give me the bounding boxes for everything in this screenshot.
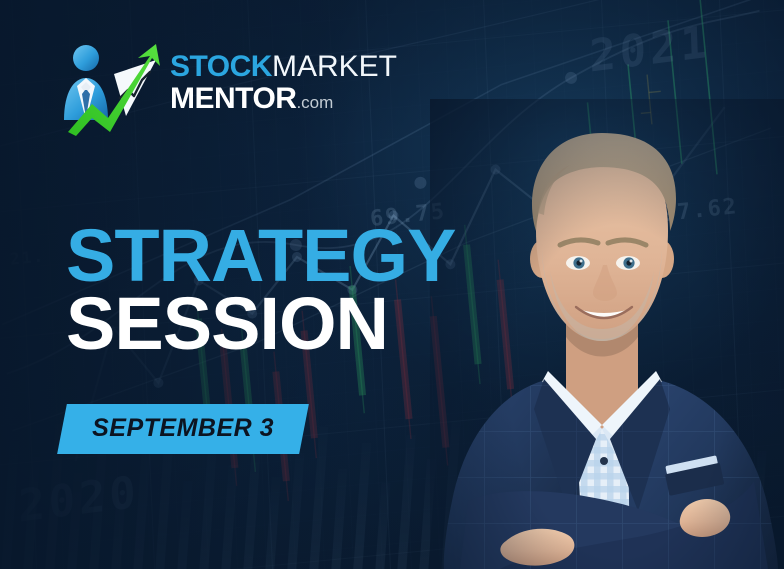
date-badge[interactable]: SEPTEMBER 3 [57,404,309,454]
headline-line-2: SESSION [66,290,455,358]
brand-logo-wordmark: STOCKMARKET MENTOR.com [170,52,397,114]
date-badge-label: SEPTEMBER 3 [92,414,274,443]
logo-word-mentor: MENTOR [170,82,296,115]
brand-logo[interactable]: STOCKMARKET MENTOR.com [52,38,342,138]
logo-word-com: .com [296,93,333,112]
headline-block: STRATEGY SESSION [66,222,455,358]
headline-line-1: STRATEGY [66,222,455,290]
businessman-chart-arrow-logo-icon [52,38,180,138]
presenter-photo [438,109,784,569]
logo-word-stock: STOCK [170,50,272,83]
promo-banner: 2021 2020 69.75 97.62 21. [0,0,784,569]
logo-word-market: MARKET [272,50,397,83]
